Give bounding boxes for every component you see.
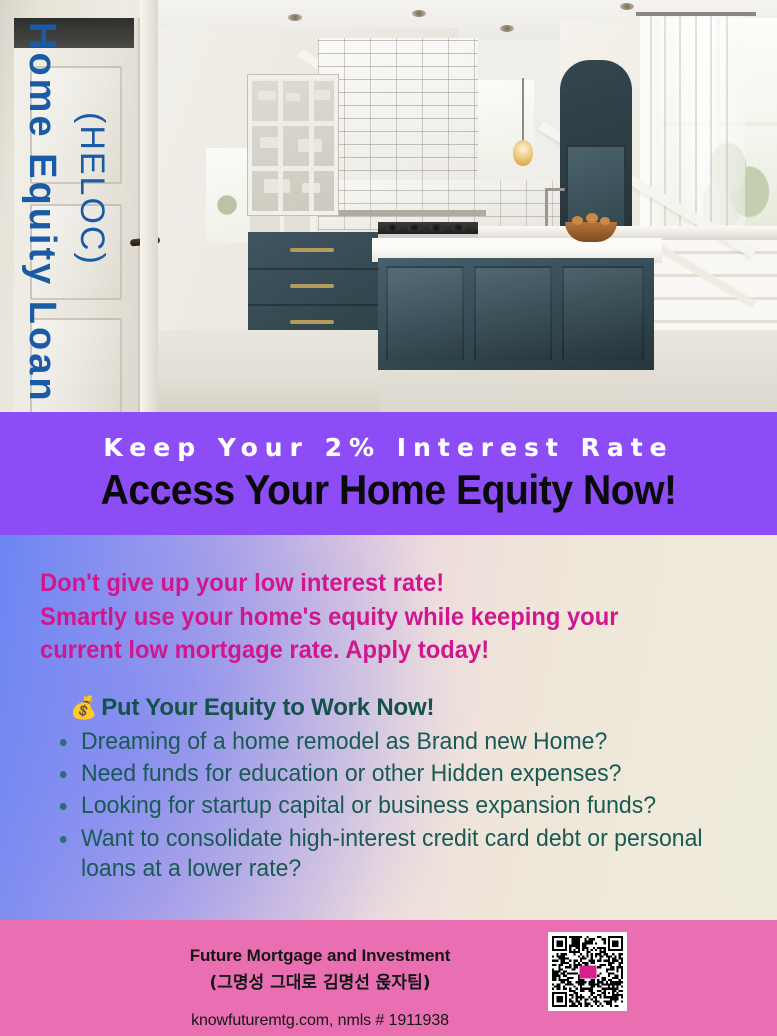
recessed-light-icon — [620, 3, 634, 10]
lede-line: Smartly use your home's equity while kee… — [40, 601, 705, 635]
list-item: Want to consolidate high-interest credit… — [56, 824, 738, 884]
list-item: Need funds for education or other Hidden… — [56, 759, 738, 789]
faucet — [545, 188, 565, 191]
lede-line: Don't give up your low interest rate! — [40, 567, 705, 601]
banner-kicker-text: Keep Your 2% Interest Rate — [103, 433, 673, 462]
vertical-title-heloc: (HELOC) — [72, 112, 111, 266]
qr-center-logo — [579, 965, 596, 978]
recessed-light-icon — [288, 14, 302, 21]
recessed-light-icon — [412, 10, 426, 17]
heloc-marketing-flyer: Home Equity Loan (HELOC) Keep Your 2% In… — [0, 0, 777, 1036]
pendant-cord — [522, 78, 524, 146]
purple-headline-banner: Keep Your 2% Interest Rate Access Your H… — [0, 412, 777, 535]
qr-code[interactable] — [548, 932, 627, 1011]
cta-heading: 💰Put Your Equity to Work Now! — [70, 694, 434, 722]
company-name: Future Mortgage and Investment — [0, 946, 640, 966]
website-and-license: knowfuturemtg.com, nmls # 1911938 — [0, 1012, 640, 1030]
vertical-title-main: Home Equity Loan — [20, 22, 63, 404]
kitchen-island — [378, 258, 654, 370]
sheer-curtain — [640, 14, 745, 239]
list-item: Looking for startup capital or business … — [56, 791, 738, 821]
money-bag-icon: 💰 — [70, 695, 97, 720]
pendant-light-bulb — [513, 140, 533, 166]
footer-contact-bar: Future Mortgage and Investment (그명성 그대로 … — [0, 920, 777, 1036]
lede-paragraph: Don't give up your low interest rate! Sm… — [40, 567, 705, 668]
company-name-korean: (그명성 그대로 김명선 욵자팀) — [0, 968, 640, 993]
benefit-list: Dreaming of a home remodel as Brand new … — [56, 727, 766, 886]
list-item: Dreaming of a home remodel as Brand new … — [56, 727, 738, 757]
cooktop — [378, 222, 478, 234]
glass-front-cabinet — [248, 75, 338, 215]
door-jamb — [140, 0, 158, 412]
body-section: Don't give up your low interest rate! Sm… — [0, 535, 777, 920]
recessed-light-icon — [500, 25, 514, 32]
teal-base-cabinets — [248, 232, 378, 342]
footer-text-block: Future Mortgage and Investment (그명성 그대로 … — [0, 946, 640, 1030]
banner-headline: Access Your Home Equity Now! — [101, 466, 677, 514]
curtain-rod — [636, 12, 756, 16]
faucet — [545, 188, 548, 226]
cta-heading-label: Put Your Equity to Work Now! — [101, 694, 434, 721]
kitchen-hero-photo: Home Equity Loan (HELOC) — [0, 0, 777, 412]
range-hood-shelf — [316, 210, 486, 216]
cabinet-glass-grid — [252, 79, 334, 211]
lede-line: current low mortgage rate. Apply today! — [40, 634, 705, 668]
